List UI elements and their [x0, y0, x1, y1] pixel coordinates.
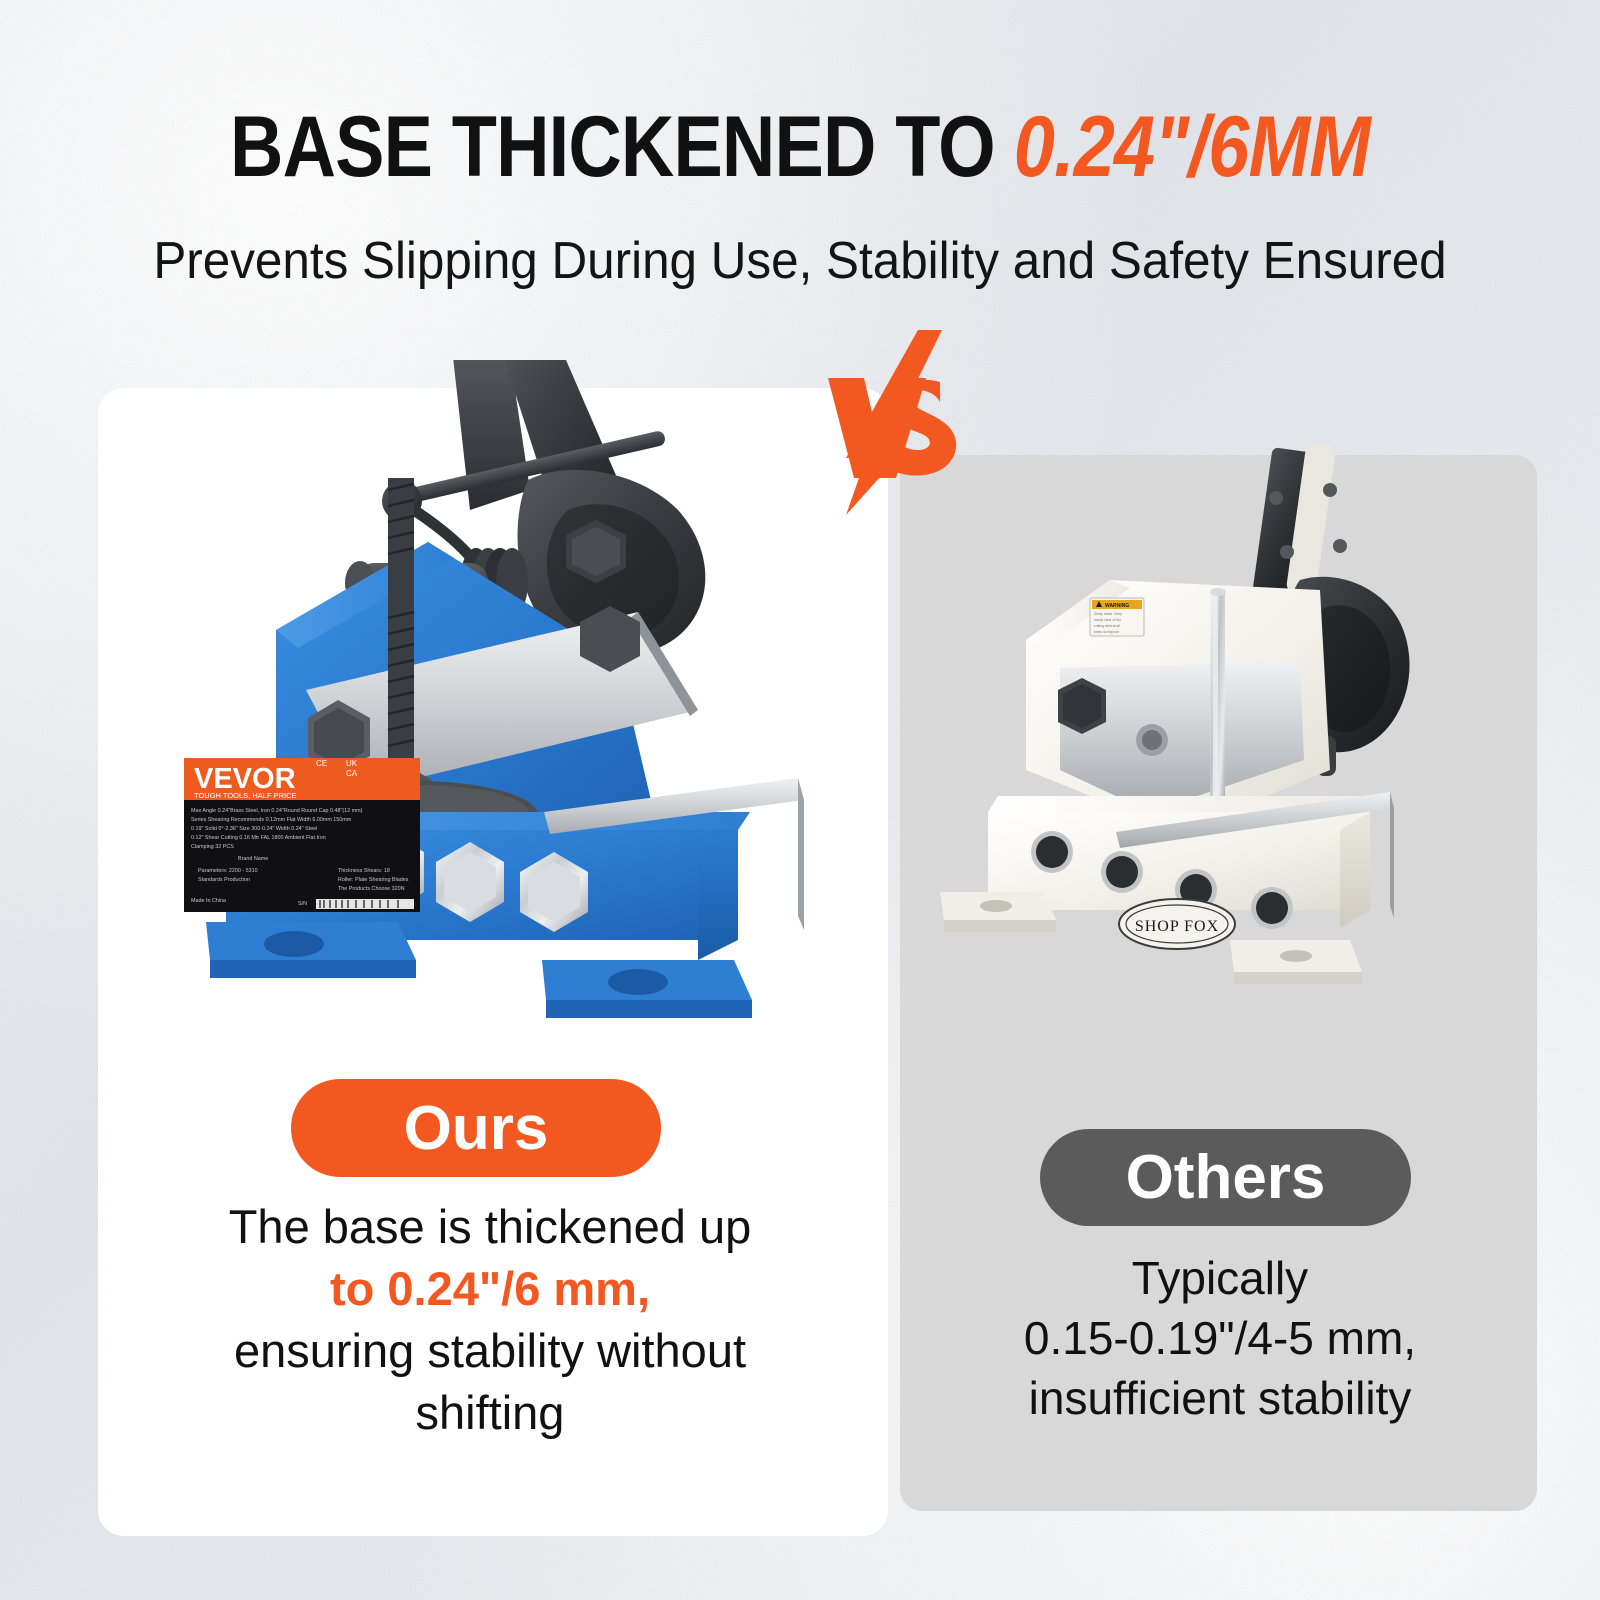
pill-ours: Ours — [291, 1079, 661, 1177]
pill-others: Others — [1040, 1129, 1411, 1226]
svg-text:Brand Name: Brand Name — [238, 856, 268, 862]
svg-text:hands clear of the: hands clear of the — [1094, 618, 1121, 622]
svg-text:CE: CE — [316, 759, 327, 768]
caption-ours: The base is thickened up to 0.24"/6 mm, … — [140, 1196, 840, 1444]
warning-sticker: WARNING Sharp blade. Keep hands clear of… — [1090, 598, 1144, 636]
svg-text:Made In China: Made In China — [191, 898, 226, 904]
svg-text:Clamping 32 PCS: Clamping 32 PCS — [191, 844, 234, 850]
headline-main-text: BASE THICKENED TO — [230, 99, 995, 195]
caption-ours-line1: The base is thickened up — [140, 1196, 840, 1258]
svg-text:WARNING: WARNING — [1105, 603, 1129, 609]
pill-others-label: Others — [1126, 1142, 1326, 1213]
caption-others-line3: insufficient stability — [955, 1368, 1485, 1428]
shop-fox-badge: SHOP FOX — [1119, 899, 1235, 949]
vevor-spec-label: VEVOR CE UK CA TOUGH TOOLS, HALF PRICE M… — [184, 758, 420, 912]
svg-text:The Products Choose 320N: The Products Choose 320N — [338, 886, 405, 892]
caption-others-line1: Typically — [955, 1248, 1485, 1308]
caption-others: Typically 0.15-0.19"/4-5 mm, insufficien… — [955, 1248, 1485, 1428]
page-subtitle: Prevents Slipping During Use, Stability … — [40, 232, 1560, 290]
caption-others-line2: 0.15-0.19"/4-5 mm, — [955, 1308, 1485, 1368]
svg-text:Series Shearing Recommends 0.1: Series Shearing Recommends 0.12mm Flat W… — [191, 817, 352, 823]
header: BASE THICKENED TO0.24"/6MM Prevents Slip… — [0, 0, 1600, 330]
svg-text:UK: UK — [346, 759, 358, 768]
svg-text:Thickness Shears: 18: Thickness Shears: 18 — [338, 868, 390, 874]
svg-text:Standards Production: Standards Production — [198, 877, 250, 883]
svg-text:Sharp blade. Keep: Sharp blade. Keep — [1094, 612, 1122, 616]
svg-text:cutting area at all: cutting area at all — [1094, 624, 1120, 628]
svg-text:CA: CA — [346, 769, 358, 778]
svg-text:0.19" Solid 0°-2.36" Size 300-: 0.19" Solid 0°-2.36" Size 300-0.24" Widt… — [191, 826, 317, 832]
svg-text:TOUGH TOOLS, HALF PRICE: TOUGH TOOLS, HALF PRICE — [194, 791, 297, 800]
product-image-ours: VEVOR CE UK CA TOUGH TOOLS, HALF PRICE M… — [98, 360, 888, 1060]
headline-accent-text: 0.24"/6MM — [1014, 99, 1370, 195]
caption-ours-line4: shifting — [140, 1382, 840, 1444]
hex-bolt-face-others — [1058, 678, 1106, 734]
svg-text:times during use.: times during use. — [1094, 630, 1120, 634]
pill-ours-label: Ours — [404, 1093, 549, 1164]
svg-text:0.12" Shear Cutting 0.16 Mtr F: 0.12" Shear Cutting 0.16 Mtr FAL 1800 Am… — [191, 835, 326, 841]
product-image-others: SHOP FOX WARNING Sharp blade. Keep hands… — [900, 440, 1537, 1080]
caption-ours-line3: ensuring stability without — [140, 1320, 840, 1382]
svg-text:SHOP FOX: SHOP FOX — [1135, 918, 1219, 935]
svg-text:Roller: Plate Shearing Blades: Roller: Plate Shearing Blades — [338, 877, 409, 883]
vs-badge — [790, 330, 980, 515]
svg-text:Max Angle 0.24"Brass Steel, Ir: Max Angle 0.24"Brass Steel, Iron 0.24"Ro… — [191, 808, 363, 814]
caption-ours-highlight: to 0.24"/6 mm, — [140, 1258, 840, 1320]
page-title: BASE THICKENED TO0.24"/6MM — [112, 104, 1488, 190]
svg-text:S/N: S/N — [298, 901, 307, 907]
svg-text:Parameters: 2200 - 5310: Parameters: 2200 - 5310 — [198, 868, 258, 874]
